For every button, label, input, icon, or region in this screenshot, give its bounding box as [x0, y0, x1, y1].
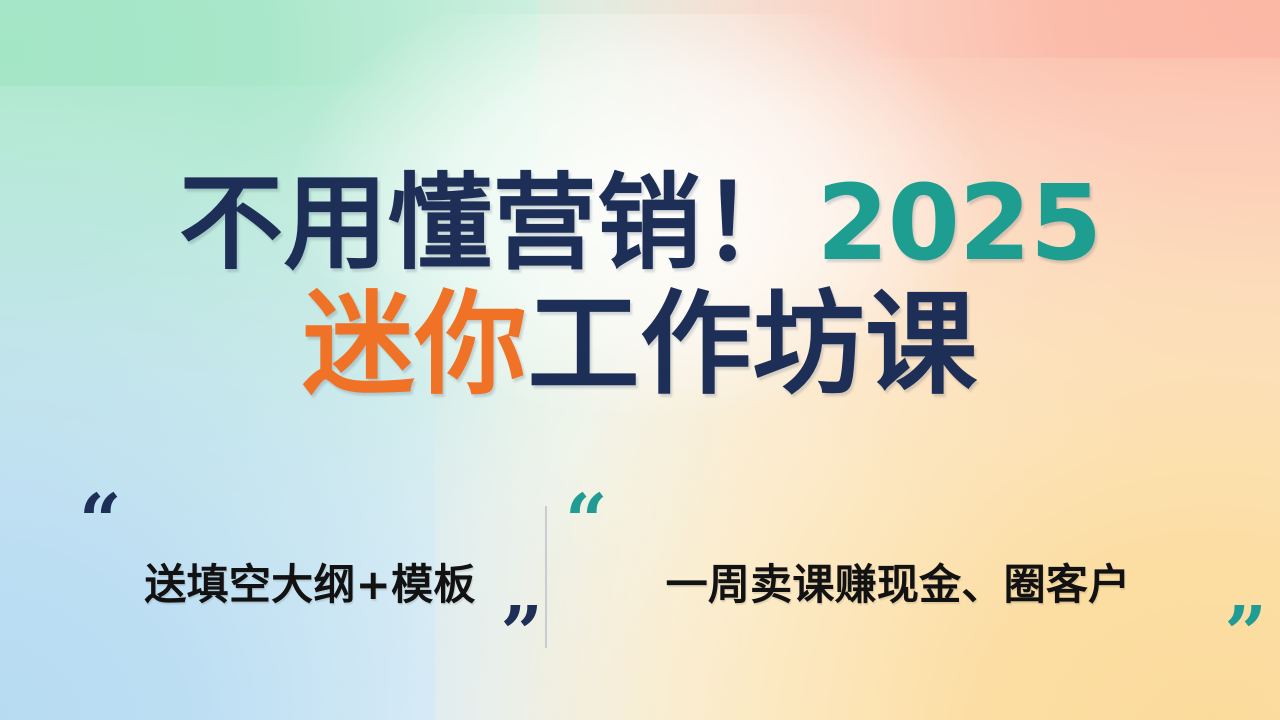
quote-open-icon: “	[79, 496, 122, 549]
headline-line-2-accent: 迷你	[302, 280, 527, 410]
quote-open-icon: “	[565, 496, 608, 549]
subtitle-text-right: 一周卖课赚现金、圈客户	[666, 562, 1131, 608]
poster-content: 不用懂营销！2025 迷你工作坊课 “ 送填空大纲+模板 ” “ 一周卖课赚现金…	[0, 0, 1280, 720]
subtitle-block-left: “ 送填空大纲+模板 ”	[57, 492, 545, 667]
promo-poster: 不用懂营销！2025 迷你工作坊课 “ 送填空大纲+模板 ” “ 一周卖课赚现金…	[0, 0, 1280, 720]
headline-line-2-primary: 工作坊课	[527, 280, 977, 410]
quote-close-icon: ”	[1224, 608, 1267, 661]
subtitle-row: “ 送填空大纲+模板 ” “ 一周卖课赚现金、圈客户 ”	[0, 492, 1280, 667]
subtitle-block-right: “ 一周卖课赚现金、圈客户 ”	[547, 492, 1223, 667]
headline-line-1-primary: 不用懂营销！	[179, 162, 806, 284]
headline-line-2: 迷你工作坊课	[0, 286, 1280, 405]
headline: 不用懂营销！2025 迷你工作坊课	[0, 168, 1280, 405]
headline-line-1-year: 2025	[817, 162, 1101, 284]
subtitle-text-left: 送填空大纲+模板	[144, 562, 475, 608]
quote-close-icon: ”	[500, 608, 543, 661]
headline-line-1: 不用懂营销！2025	[0, 168, 1280, 278]
